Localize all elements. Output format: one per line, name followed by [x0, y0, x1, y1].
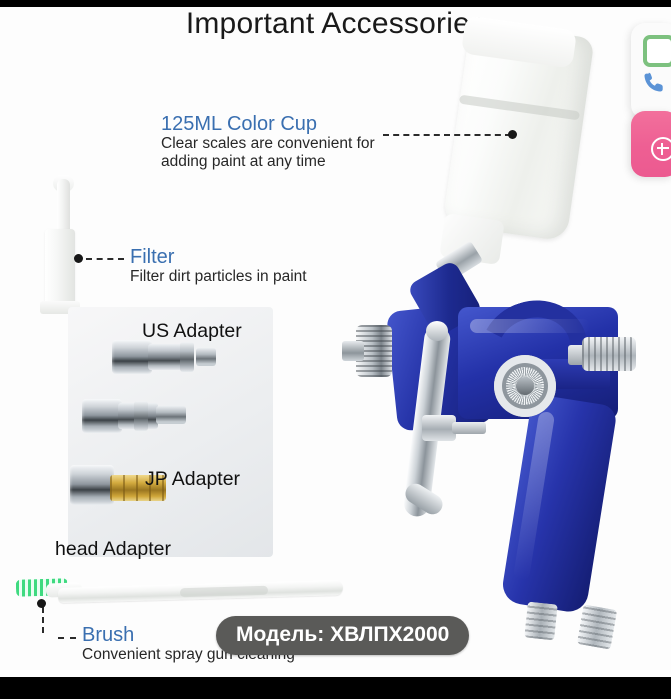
nozzle-tip [342, 341, 364, 361]
leader-dot-color-cup [508, 130, 517, 139]
letterbox-bottom [0, 677, 671, 699]
annotation-filter-line1: Filter dirt particles in paint [130, 268, 307, 286]
air-adjust-knob [582, 337, 636, 371]
letterbox-top [0, 0, 671, 7]
floating-widget-group[interactable] [631, 23, 671, 119]
annotation-filter-heading: Filter [130, 247, 307, 268]
filter-body [45, 229, 75, 307]
leader-line-filter [86, 258, 124, 260]
chat-square-icon[interactable] [643, 35, 671, 67]
leader-dot-filter [74, 254, 83, 263]
air-inlet-rear [577, 604, 617, 649]
air-inlet-front [524, 602, 558, 641]
adapters-photo-block [68, 307, 273, 557]
add-button-widget[interactable] [631, 111, 671, 177]
jp-adapter-label: JP Adapter [145, 468, 240, 491]
model-badge: Модель: ХВЛПХ2000 [216, 616, 469, 655]
fluid-adjust-knob [422, 415, 456, 441]
annotation-filter: Filter Filter dirt particles in paint [130, 247, 307, 286]
plus-circle-icon [651, 137, 671, 161]
annotation-color-cup-line2: adding paint at any time [161, 153, 375, 171]
leader-line-color-cup [383, 134, 511, 136]
phone-handset-icon[interactable] [641, 69, 669, 97]
head-adapter-label: head Adapter [55, 538, 171, 561]
product-infographic: Important Accessories [0, 0, 671, 699]
gun-trigger-pin [426, 321, 448, 341]
pattern-adjust-dial [494, 355, 556, 417]
annotation-color-cup-heading: 125ML Color Cup [161, 114, 375, 135]
leader-dot-brush [37, 599, 46, 608]
gun-handle [500, 394, 618, 615]
fluid-adjust-stem [452, 422, 486, 434]
leader-line-brush [42, 607, 44, 633]
infographic-canvas: Important Accessories [0, 7, 671, 677]
annotation-color-cup-line1: Clear scales are convenient for [161, 135, 375, 153]
gun-body-highlight [470, 319, 590, 333]
us-adapter-label: US Adapter [142, 320, 242, 343]
annotation-color-cup: 125ML Color Cup Clear scales are conveni… [161, 114, 375, 171]
spray-gun-image [330, 7, 671, 677]
leader-line-brush-h [58, 637, 76, 639]
